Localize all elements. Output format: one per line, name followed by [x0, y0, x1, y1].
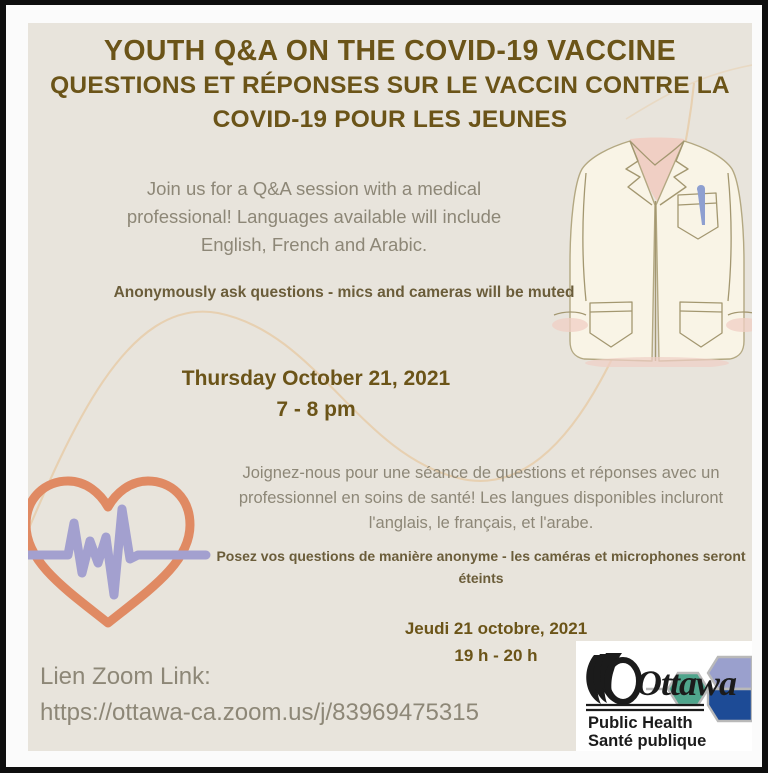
heart-ekg-illustration [28, 463, 218, 638]
english-time: 7 - 8 pm [106, 394, 526, 425]
title-line-french-2: COVID-19 POUR LES JEUNES [28, 103, 752, 137]
zoom-meeting-link[interactable]: https://ottawa-ca.zoom.us/j/83969475315 [40, 695, 580, 731]
poster-frame: YOUTH Q&A ON THE COVID-19 VACCINE QUESTI… [0, 0, 768, 773]
english-anonymity-note: Anonymously ask questions - mics and cam… [104, 281, 584, 305]
lab-coat-illustration [552, 135, 752, 367]
title-line-french-1: QUESTIONS ET RÉPONSES SUR LE VACCIN CONT… [28, 69, 752, 103]
poster-title: YOUTH Q&A ON THE COVID-19 VACCINE QUESTI… [28, 33, 752, 137]
english-date: Thursday October 21, 2021 [106, 363, 526, 394]
french-intro-text: Joignez-nous pour une séance de question… [216, 461, 746, 536]
french-anonymity-note: Posez vos questions de manière anonyme -… [216, 545, 746, 589]
poster-canvas: YOUTH Q&A ON THE COVID-19 VACCINE QUESTI… [28, 23, 752, 751]
zoom-link-block: Lien Zoom Link: https://ottawa-ca.zoom.u… [40, 659, 580, 731]
french-date: Jeudi 21 octobre, 2021 [296, 615, 696, 642]
ottawa-logo-graphic: Ottawa Public Health Santé publique [576, 641, 752, 751]
paper-margin: YOUTH Q&A ON THE COVID-19 VACCINE QUESTI… [6, 5, 762, 767]
title-line-english: YOUTH Q&A ON THE COVID-19 VACCINE [28, 33, 752, 69]
logo-public-health-en: Public Health [588, 714, 693, 732]
zoom-link-label: Lien Zoom Link: [40, 659, 580, 695]
ottawa-wordmark-text: Ottawa [636, 663, 737, 703]
english-intro-text: Join us for a Q&A session with a medical… [104, 175, 524, 259]
logo-public-health-fr: Santé publique [588, 732, 706, 750]
ottawa-public-health-logo: Ottawa Public Health Santé publique [576, 641, 752, 751]
english-date-time: Thursday October 21, 2021 7 - 8 pm [106, 363, 526, 425]
